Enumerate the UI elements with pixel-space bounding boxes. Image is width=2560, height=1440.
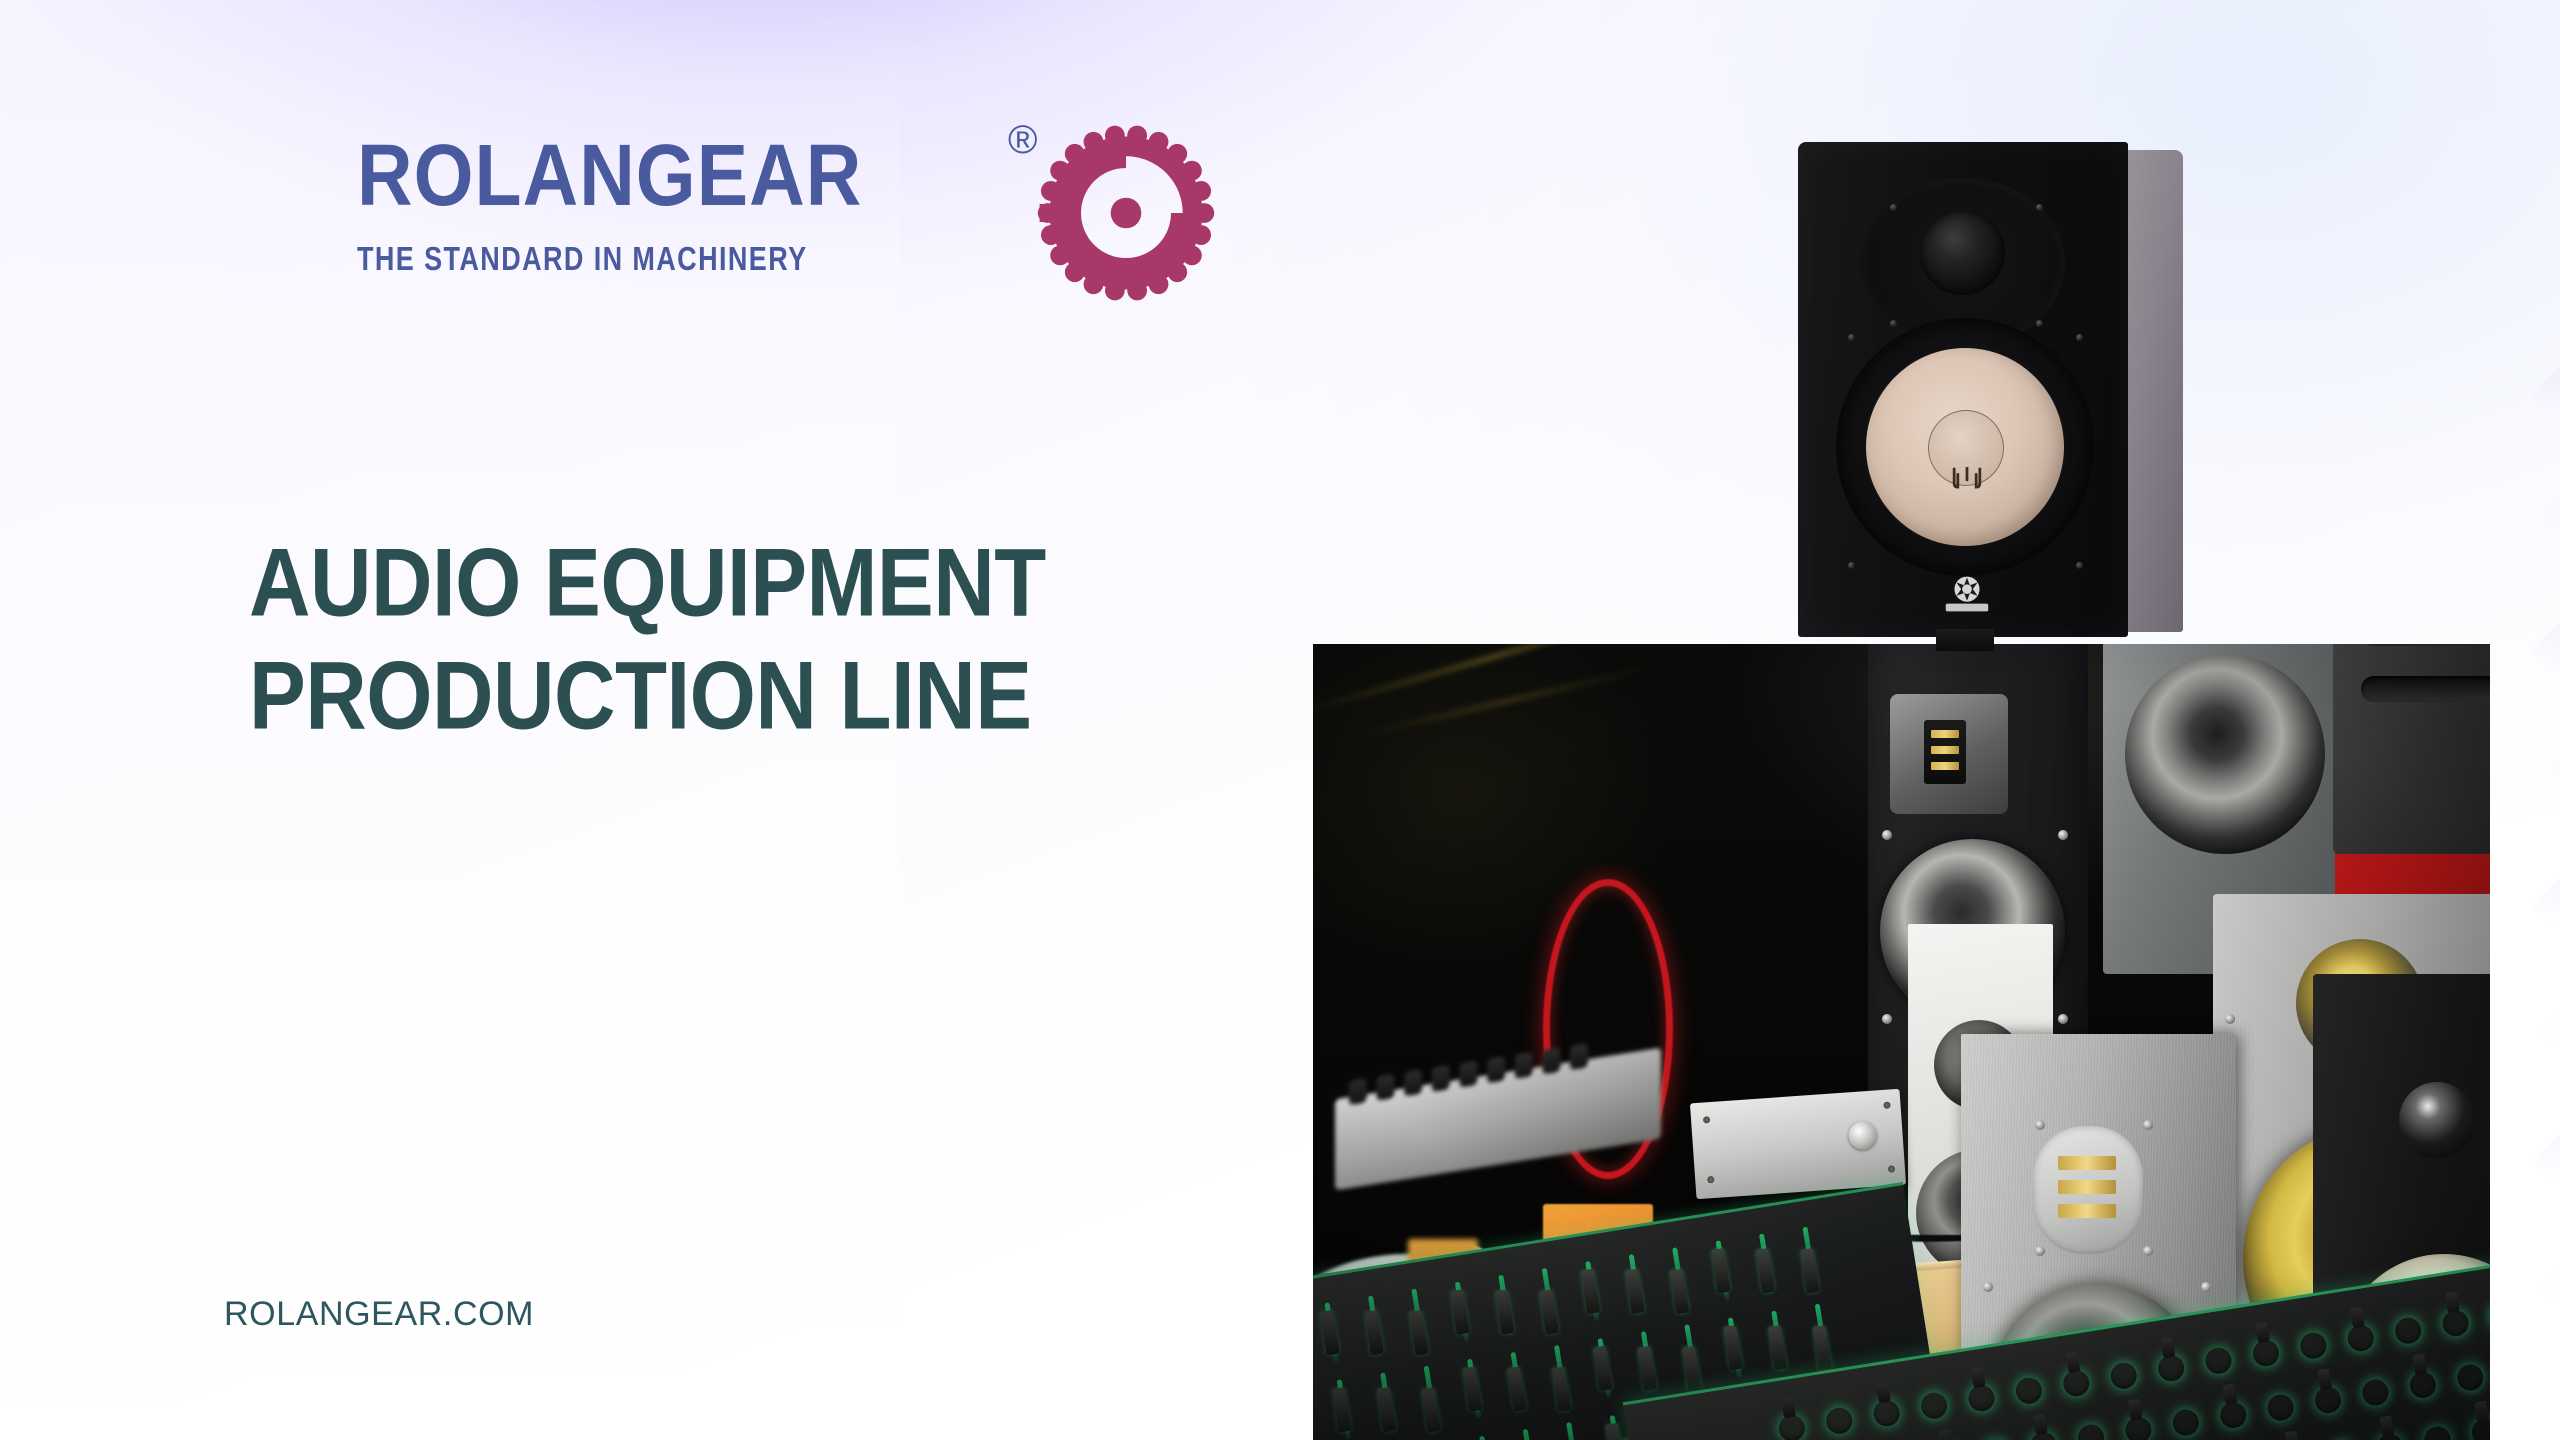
page-title-line-1: AUDIO EQUIPMENT [249, 527, 1298, 640]
studio-monitor-speaker [1798, 142, 2183, 644]
spiral-gear-icon [1036, 123, 1216, 303]
brand-wordmark: ROLANGEAR [357, 132, 862, 219]
page-title-line-2: PRODUCTION LINE [249, 640, 1298, 753]
speaker-brand-badge [1938, 574, 1996, 614]
brand-logo[interactable]: ROLANGEAR ® THE STANDARD IN MACHINERY [357, 132, 1197, 262]
audio-equipment-photo [1313, 644, 2490, 1440]
top-right-speaker [2333, 644, 2490, 854]
logo-text-group: ROLANGEAR ® THE STANDARD IN MACHINERY [357, 132, 843, 206]
brand-tagline: THE STANDARD IN MACHINERY [357, 240, 808, 279]
website-url[interactable]: ROLANGEAR.COM [224, 1295, 534, 1334]
registered-trademark-icon: ® [1008, 118, 1037, 163]
page-title: AUDIO EQUIPMENT PRODUCTION LINE [249, 527, 1298, 752]
